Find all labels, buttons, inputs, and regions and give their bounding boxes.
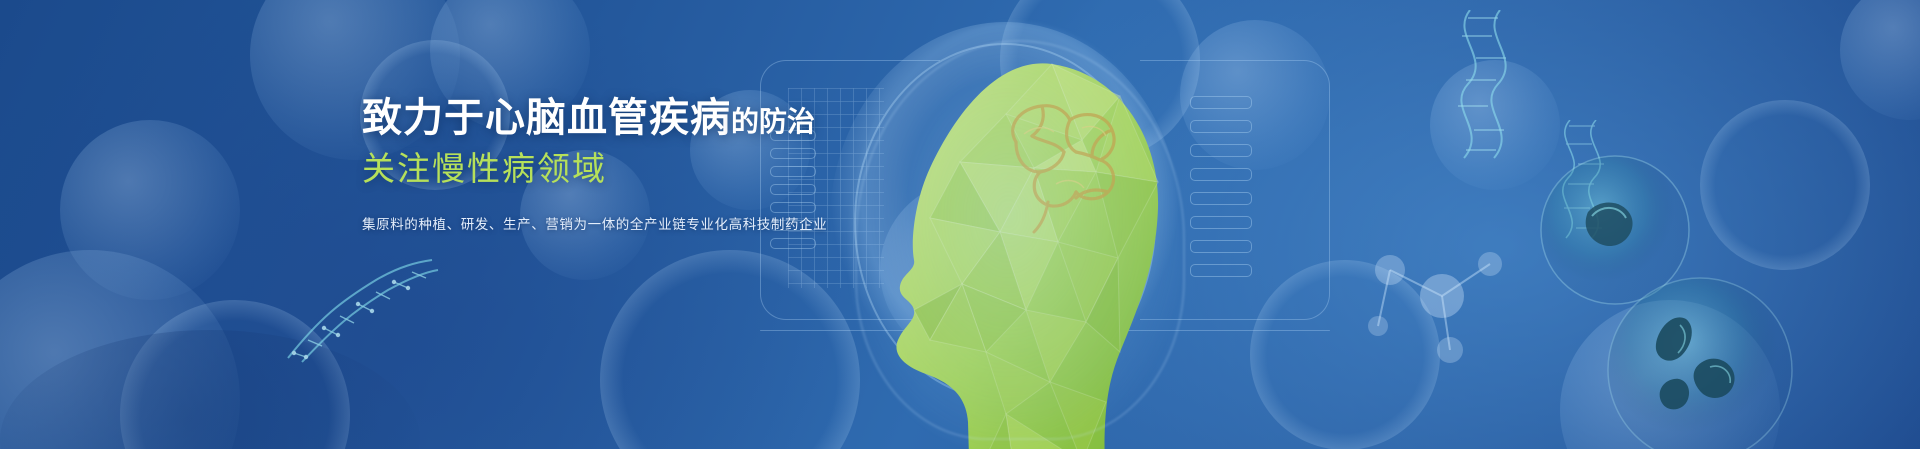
- molecule-icon: [1350, 230, 1520, 370]
- bokeh-circle: [60, 120, 240, 300]
- banner-tagline: 集原料的种植、研发、生产、营销为一体的全产业链专业化高科技制药企业: [362, 213, 1002, 233]
- dna-helix-icon: [1430, 10, 1550, 160]
- headline-main-text: 致力于心脑血管疾病: [362, 96, 731, 140]
- hero-banner: 致力于心脑血管疾病的防治 关注慢性病领域 集原料的种植、研发、生产、营销为一体的…: [0, 0, 1920, 449]
- bokeh-circle: [1840, 0, 1920, 120]
- hud-pill: [770, 238, 816, 249]
- banner-text-block: 致力于心脑血管疾病的防治 关注慢性病领域 集原料的种植、研发、生产、营销为一体的…: [362, 96, 1002, 233]
- banner-subheadline: 关注慢性病领域: [362, 149, 1002, 189]
- bokeh-ring: [1700, 100, 1870, 270]
- bokeh-circle: [0, 250, 240, 449]
- headline-tail-text: 的防治: [731, 106, 815, 137]
- banner-headline: 致力于心脑血管疾病的防治: [362, 96, 1002, 142]
- dna-helix-icon: [280, 258, 440, 368]
- cell-illustration: [1600, 275, 1800, 449]
